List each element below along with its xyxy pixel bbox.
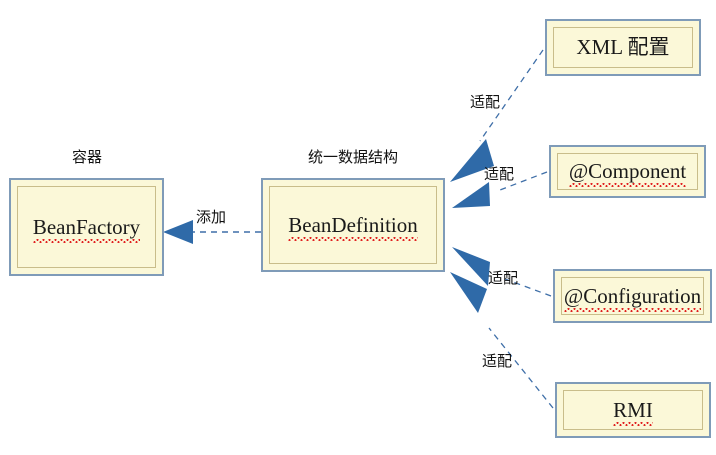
caption-container: 容器 — [54, 146, 120, 167]
node-xml-config-label: XML 配置 — [576, 37, 669, 58]
edge-label-adapt-configuration: 适配 — [488, 267, 518, 288]
edge-label-adapt-component: 适配 — [484, 163, 514, 184]
node-bean-factory[interactable]: BeanFactory — [9, 178, 164, 276]
node-configuration[interactable]: @Configuration — [553, 269, 712, 323]
node-bean-definition-inner: BeanDefinition — [269, 186, 437, 264]
node-component-label: @Component — [569, 161, 686, 182]
arrowhead-add — [163, 220, 193, 244]
node-rmi[interactable]: RMI — [555, 382, 711, 438]
edge-label-adapt-xml: 适配 — [470, 91, 500, 112]
edge-label-add: 添加 — [196, 206, 226, 227]
diagram-canvas: 容器 统一数据结构 BeanFactory BeanDefinition XML… — [0, 0, 716, 455]
node-configuration-inner: @Configuration — [561, 277, 704, 315]
node-component-inner: @Component — [557, 153, 698, 190]
edge-label-adapt-rmi: 适配 — [482, 350, 512, 371]
node-xml-config[interactable]: XML 配置 — [545, 19, 701, 76]
arrowhead-adapt-component — [452, 182, 490, 208]
caption-unified-data-structure: 统一数据结构 — [288, 146, 418, 167]
node-configuration-label: @Configuration — [564, 286, 701, 307]
node-rmi-inner: RMI — [563, 390, 703, 430]
node-rmi-label: RMI — [613, 400, 653, 421]
node-bean-factory-inner: BeanFactory — [17, 186, 156, 268]
node-bean-factory-label: BeanFactory — [33, 217, 140, 238]
node-xml-config-inner: XML 配置 — [553, 27, 693, 68]
node-bean-definition-label: BeanDefinition — [288, 215, 417, 236]
node-bean-definition[interactable]: BeanDefinition — [261, 178, 445, 272]
node-component[interactable]: @Component — [549, 145, 706, 198]
